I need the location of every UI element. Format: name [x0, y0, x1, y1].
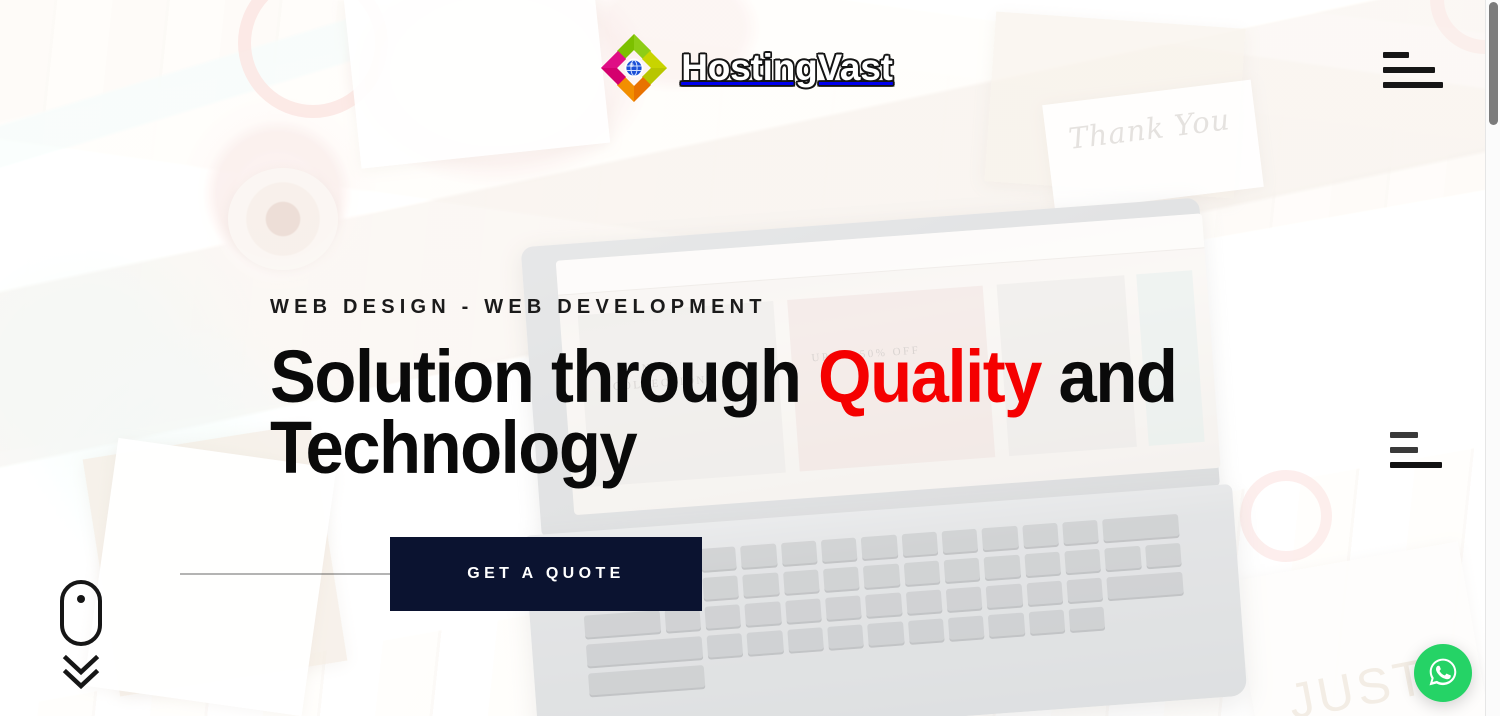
diamond-petals-globe-logo-icon	[599, 32, 669, 104]
mouse-scroll-icon	[60, 580, 102, 646]
cta-accent-line	[180, 573, 390, 575]
hamburger-bar	[1383, 52, 1409, 58]
hamburger-bar	[1390, 432, 1418, 438]
brand-logo-link[interactable]: HostingVast	[599, 32, 893, 104]
chevron-down-icon	[58, 648, 104, 694]
hero-content: WEB DESIGN - WEB DEVELOPMENT Solution th…	[270, 296, 1170, 611]
secondary-menu-toggle-button[interactable]	[1390, 432, 1442, 468]
whatsapp-icon	[1426, 655, 1460, 692]
mouse-wheel-dot	[77, 595, 85, 603]
hamburger-bar	[1383, 67, 1435, 73]
hero-cta-row: GET A QUOTE	[180, 537, 1170, 611]
headline-text-part2: and	[1041, 335, 1177, 418]
hamburger-bar	[1383, 82, 1443, 88]
scrollbar-thumb[interactable]	[1489, 2, 1498, 125]
menu-toggle-button[interactable]	[1383, 52, 1443, 88]
hero-headline: Solution through Quality and Technology	[270, 341, 1107, 483]
brand-name: HostingVast	[681, 47, 893, 89]
page-scrollbar[interactable]	[1485, 0, 1500, 716]
hamburger-bar	[1390, 462, 1442, 468]
get-a-quote-button[interactable]: GET A QUOTE	[390, 537, 702, 611]
hamburger-bar	[1390, 447, 1418, 453]
headline-accent-word: Quality	[818, 335, 1041, 418]
whatsapp-chat-button[interactable]	[1414, 644, 1472, 702]
scroll-down-indicator[interactable]	[58, 580, 104, 694]
hero-eyebrow: WEB DESIGN - WEB DEVELOPMENT	[270, 296, 1170, 319]
site-header: HostingVast	[0, 0, 1492, 134]
hero-section: Thank You JUST NEW COLLECTION UP TO 50% …	[0, 0, 1500, 716]
headline-line-two: Technology	[270, 406, 636, 489]
